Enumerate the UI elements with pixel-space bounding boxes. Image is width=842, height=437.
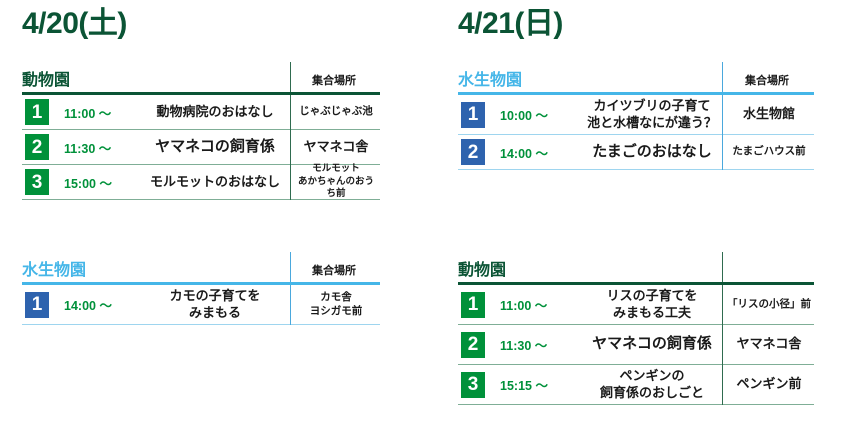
schedule-page: 4/20(土) 4/21(日) 動物園集合場所111:00 ～動物病院のおはなし… bbox=[0, 0, 842, 437]
event-time: 10:00 ～ bbox=[488, 95, 580, 134]
column-divider bbox=[290, 285, 291, 325]
row-number-badge: 1 bbox=[461, 102, 485, 128]
table-body: 110:00 ～カイツブリの子育て池と水槽なにが違う？水生物館214:00 ～た… bbox=[458, 95, 814, 170]
table-header-sat-aqua: 水生物園集合場所 bbox=[22, 252, 380, 282]
meeting-place: ヤマネコ舎 bbox=[724, 325, 814, 364]
event-time: 14:00 ～ bbox=[52, 285, 138, 324]
event-time: 11:00 ～ bbox=[488, 285, 580, 324]
day-column-saturday: 4/20(土) bbox=[22, 8, 380, 40]
place-column-header: 集合場所 bbox=[722, 76, 812, 92]
schedule-table-saturday-aquarium: 水生物園集合場所114:00 ～カモの子育てをみまもるカモ舎ヨシガモ前 bbox=[22, 252, 380, 325]
row-number-badge: 2 bbox=[461, 139, 485, 165]
table-header-sun-aqua: 水生物園集合場所 bbox=[458, 62, 814, 92]
venue-name: 動物園 bbox=[22, 73, 290, 92]
venue-name: 水生物園 bbox=[22, 263, 290, 282]
meeting-place: カモ舎ヨシガモ前 bbox=[292, 285, 380, 324]
table-row[interactable]: 111:00 ～リスの子育てをみまもる工夫「リスの小径」前 bbox=[458, 285, 814, 325]
event-title: カイツブリの子育て池と水槽なにが違う？ bbox=[580, 95, 724, 134]
row-number-badge: 1 bbox=[461, 292, 485, 318]
venue-header-cell: 動物園 bbox=[22, 73, 290, 92]
meeting-place: モルモットあかちゃんのおうち前 bbox=[292, 165, 380, 199]
row-number-badge: 1 bbox=[25, 292, 49, 318]
row-number-badge: 3 bbox=[461, 372, 485, 398]
event-title: ペンギンの飼育係のおしごと bbox=[580, 365, 724, 404]
event-time: 15:15 ～ bbox=[488, 365, 580, 404]
table-row[interactable]: 110:00 ～カイツブリの子育て池と水槽なにが違う？水生物館 bbox=[458, 95, 814, 135]
row-number-badge: 2 bbox=[25, 134, 49, 160]
column-divider bbox=[290, 95, 291, 200]
meeting-place: ペンギン前 bbox=[724, 365, 814, 404]
event-title: たまごのおはなし bbox=[580, 135, 724, 169]
table-row[interactable]: 315:15 ～ペンギンの飼育係のおしごとペンギン前 bbox=[458, 365, 814, 405]
event-title: 動物病院のおはなし bbox=[138, 95, 292, 129]
row-number-cell: 1 bbox=[22, 285, 52, 324]
day-title-saturday: 4/20(土) bbox=[22, 8, 380, 40]
venue-header-cell: 動物園 bbox=[458, 263, 722, 282]
row-number-cell: 2 bbox=[458, 135, 488, 169]
meeting-place: 水生物館 bbox=[724, 95, 814, 134]
table-header-sat-zoo: 動物園集合場所 bbox=[22, 62, 380, 92]
row-number-cell: 2 bbox=[458, 325, 488, 364]
column-divider bbox=[722, 285, 723, 405]
venue-header-cell: 水生物園 bbox=[22, 263, 290, 282]
day-column-sunday: 4/21(日) bbox=[458, 8, 814, 40]
row-number-badge: 1 bbox=[25, 99, 49, 125]
day-title-sunday: 4/21(日) bbox=[458, 8, 814, 40]
row-number-cell: 1 bbox=[458, 285, 488, 324]
place-column-header: 集合場所 bbox=[290, 76, 378, 92]
table-body: 114:00 ～カモの子育てをみまもるカモ舎ヨシガモ前 bbox=[22, 285, 380, 325]
row-number-cell: 2 bbox=[22, 130, 52, 164]
column-divider bbox=[722, 252, 723, 282]
table-row[interactable]: 211:30 ～ヤマネコの飼育係ヤマネコ舎 bbox=[22, 130, 380, 165]
table-body: 111:00 ～リスの子育てをみまもる工夫「リスの小径」前211:30 ～ヤマネ… bbox=[458, 285, 814, 405]
schedule-table-sunday-zoo: 動物園111:00 ～リスの子育てをみまもる工夫「リスの小径」前211:30 ～… bbox=[458, 252, 814, 405]
schedule-table-sunday-aquarium: 水生物園集合場所110:00 ～カイツブリの子育て池と水槽なにが違う？水生物館2… bbox=[458, 62, 814, 170]
meeting-place: 「リスの小径」前 bbox=[724, 285, 814, 324]
event-title: モルモットのおはなし bbox=[138, 165, 292, 199]
meeting-place: たまごハウス前 bbox=[724, 135, 814, 169]
meeting-place: ヤマネコ舎 bbox=[292, 130, 380, 164]
row-number-cell: 3 bbox=[22, 165, 52, 199]
place-column-header: 集合場所 bbox=[290, 266, 378, 282]
column-divider bbox=[290, 252, 291, 282]
meeting-place: じゃぶじゃぶ池 bbox=[292, 95, 380, 129]
table-row[interactable]: 111:00 ～動物病院のおはなしじゃぶじゃぶ池 bbox=[22, 95, 380, 130]
event-title: ヤマネコの飼育係 bbox=[580, 325, 724, 364]
event-title: カモの子育てをみまもる bbox=[138, 285, 292, 324]
venue-header-cell: 水生物園 bbox=[458, 73, 722, 92]
event-title: リスの子育てをみまもる工夫 bbox=[580, 285, 724, 324]
event-title: ヤマネコの飼育係 bbox=[138, 130, 292, 164]
event-time: 15:00 ～ bbox=[52, 165, 138, 199]
column-divider bbox=[290, 62, 291, 92]
event-time: 11:30 ～ bbox=[488, 325, 580, 364]
table-row[interactable]: 211:30 ～ヤマネコの飼育係ヤマネコ舎 bbox=[458, 325, 814, 365]
table-row[interactable]: 315:00 ～モルモットのおはなしモルモットあかちゃんのおうち前 bbox=[22, 165, 380, 200]
row-number-cell: 1 bbox=[458, 95, 488, 134]
event-time: 11:30 ～ bbox=[52, 130, 138, 164]
venue-name: 水生物園 bbox=[458, 73, 722, 92]
column-divider bbox=[722, 95, 723, 170]
event-time: 11:00 ～ bbox=[52, 95, 138, 129]
row-number-badge: 3 bbox=[25, 169, 49, 195]
row-number-badge: 2 bbox=[461, 332, 485, 358]
table-header-sun-zoo: 動物園 bbox=[458, 252, 814, 282]
schedule-table-saturday-zoo: 動物園集合場所111:00 ～動物病院のおはなしじゃぶじゃぶ池211:30 ～ヤ… bbox=[22, 62, 380, 200]
row-number-cell: 3 bbox=[458, 365, 488, 404]
table-row[interactable]: 114:00 ～カモの子育てをみまもるカモ舎ヨシガモ前 bbox=[22, 285, 380, 325]
table-row[interactable]: 214:00 ～たまごのおはなしたまごハウス前 bbox=[458, 135, 814, 170]
column-divider bbox=[722, 62, 723, 92]
table-body: 111:00 ～動物病院のおはなしじゃぶじゃぶ池211:30 ～ヤマネコの飼育係… bbox=[22, 95, 380, 200]
place-column-header bbox=[722, 277, 812, 282]
venue-name: 動物園 bbox=[458, 263, 722, 282]
row-number-cell: 1 bbox=[22, 95, 52, 129]
event-time: 14:00 ～ bbox=[488, 135, 580, 169]
